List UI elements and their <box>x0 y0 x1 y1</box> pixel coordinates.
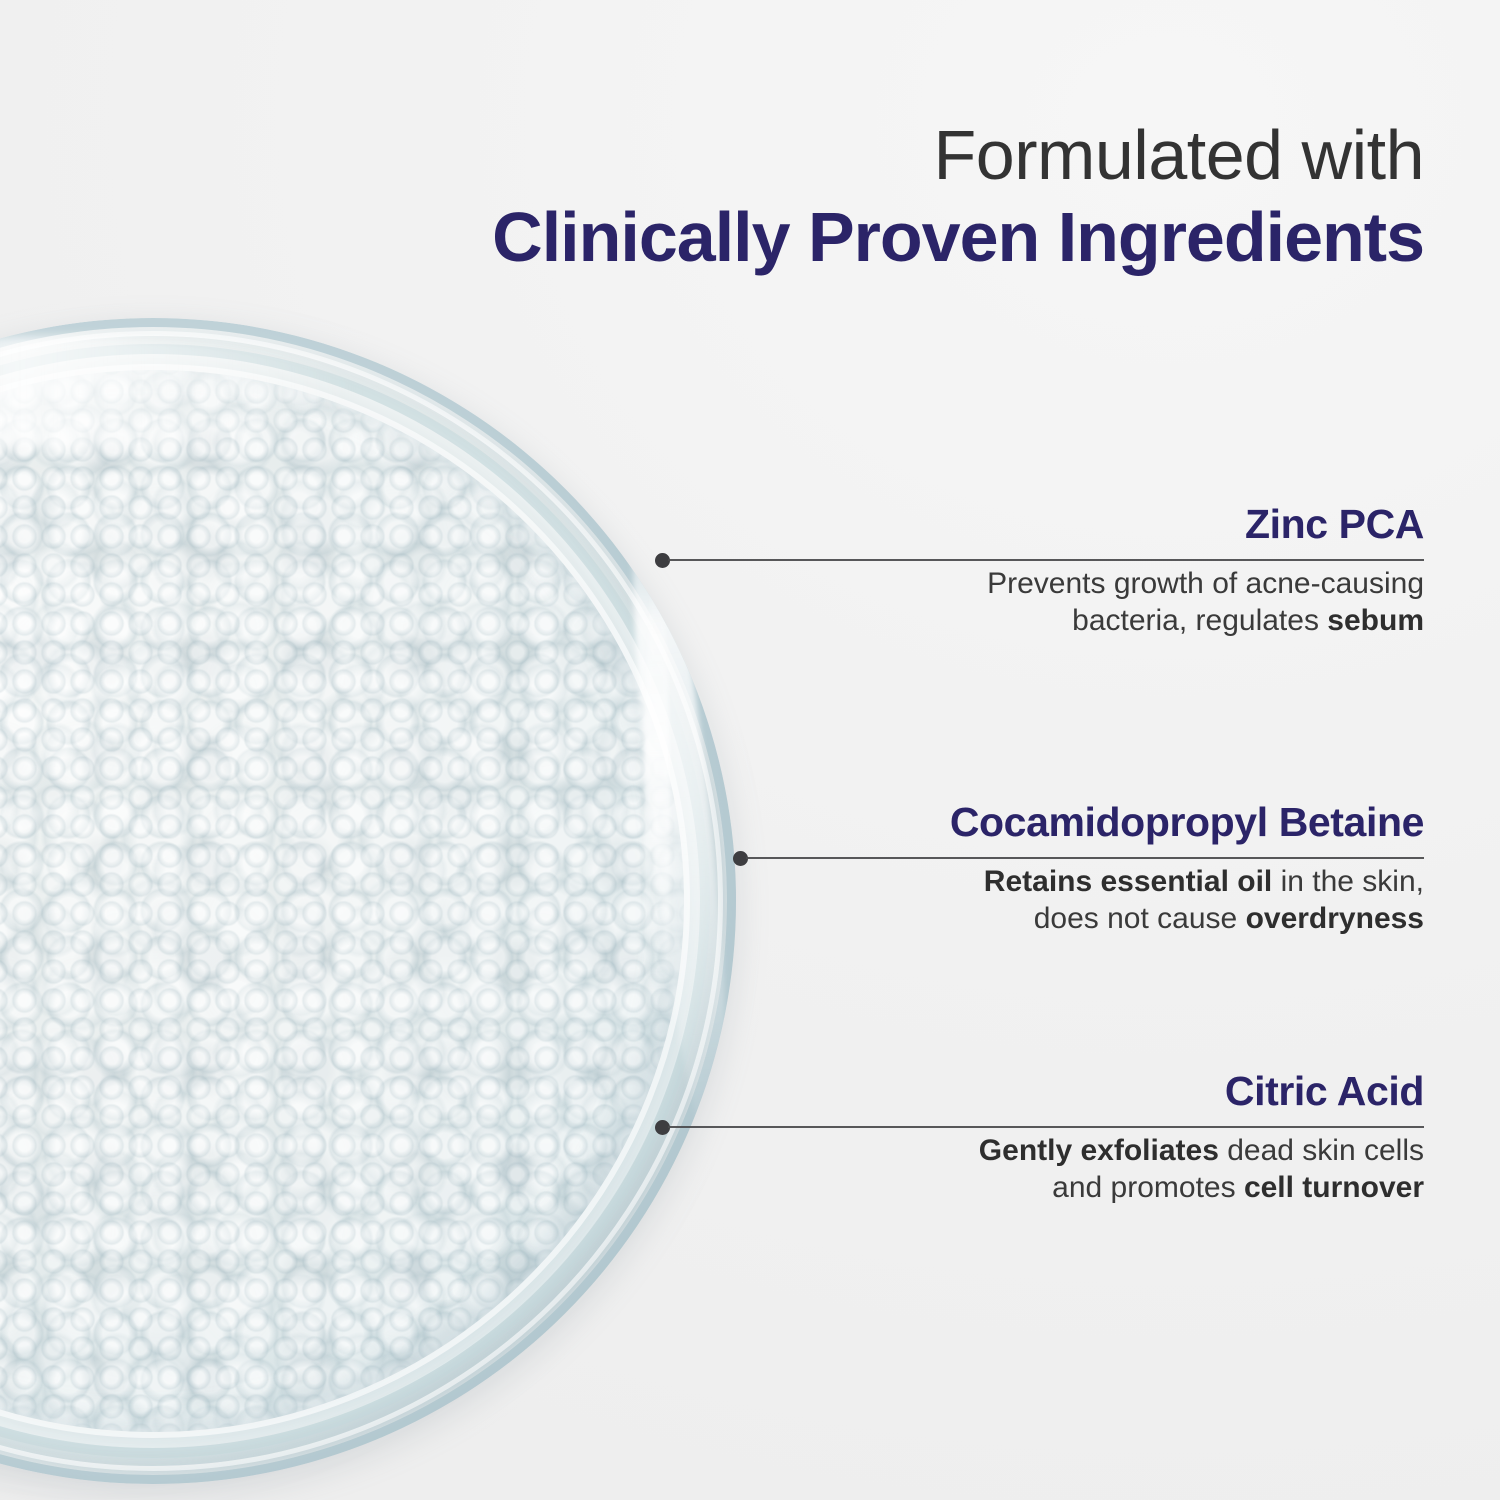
desc-line-2-plain: bacteria, regulates <box>1072 604 1327 637</box>
ingredient-description-cocamidopropyl-betaine: Retains essential oil in the skin, does … <box>950 853 1424 937</box>
desc-line-1: Prevents growth of acne-causing <box>987 567 1424 600</box>
desc-line-1-plain: in the skin, <box>1272 865 1424 898</box>
ingredient-title-cocamidopropyl-betaine: Cocamidopropyl Betaine <box>950 801 1424 853</box>
desc-line-2-emphasis: cell turnover <box>1244 1171 1424 1204</box>
desc-line-2-emphasis: sebum <box>1327 604 1424 637</box>
page-title: Formulated with Clinically Proven Ingred… <box>492 118 1424 275</box>
ingredient-callout-citric-acid: Citric Acid Gently exfoliates dead skin … <box>979 1070 1424 1206</box>
desc-line-2-plain: and promotes <box>1052 1171 1244 1204</box>
ingredient-description-citric-acid: Gently exfoliates dead skin cells and pr… <box>979 1122 1424 1206</box>
desc-line-1-plain: dead skin cells <box>1219 1134 1424 1167</box>
desc-line-1-emphasis: Retains essential oil <box>984 865 1272 898</box>
infographic-canvas: Formulated with Clinically Proven Ingred… <box>0 0 1500 1500</box>
ingredient-description-zinc-pca: Prevents growth of acne-causing bacteria… <box>987 555 1424 639</box>
ingredient-title-citric-acid: Citric Acid <box>979 1070 1424 1122</box>
ingredient-callout-zinc-pca: Zinc PCA Prevents growth of acne-causing… <box>987 503 1424 639</box>
desc-line-2-plain: does not cause <box>1034 902 1246 935</box>
headline-line-1: Formulated with <box>492 118 1424 194</box>
dish-rim-highlight-secondary <box>644 558 670 1078</box>
ingredient-title-zinc-pca: Zinc PCA <box>987 503 1424 555</box>
desc-line-2-emphasis: overdryness <box>1246 902 1424 935</box>
ingredient-callout-cocamidopropyl-betaine: Cocamidopropyl Betaine Retains essential… <box>950 801 1424 937</box>
headline-line-2: Clinically Proven Ingredients <box>492 200 1424 276</box>
desc-line-1-emphasis: Gently exfoliates <box>979 1134 1219 1167</box>
